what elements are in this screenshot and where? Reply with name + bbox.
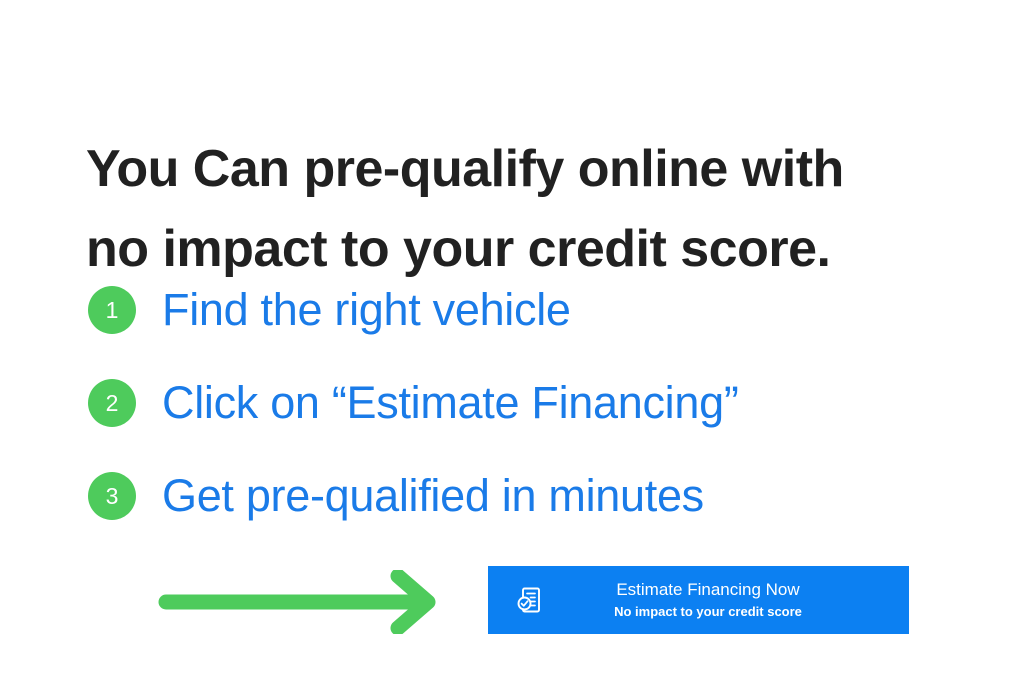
estimate-financing-button[interactable]: Estimate Financing Now No impact to your… <box>488 566 909 634</box>
cta-title: Estimate Financing Now <box>616 579 799 601</box>
steps-list: 1 Find the right vehicle 2 Click on “Est… <box>88 279 968 558</box>
arrow-right-icon <box>158 570 450 634</box>
promo-banner: You Can pre-qualify online with no impac… <box>0 0 1024 685</box>
list-item: 1 Find the right vehicle <box>88 279 968 341</box>
step-label: Find the right vehicle <box>162 286 571 333</box>
credit-report-check-icon <box>515 585 545 615</box>
step-label: Get pre-qualified in minutes <box>162 472 704 519</box>
step-label: Click on “Estimate Financing” <box>162 379 739 426</box>
list-item: 3 Get pre-qualified in minutes <box>88 465 968 527</box>
step-number-badge: 3 <box>88 472 136 520</box>
step-number-badge: 2 <box>88 379 136 427</box>
step-number-badge: 1 <box>88 286 136 334</box>
page-title: You Can pre-qualify online with no impac… <box>86 129 966 289</box>
cta-subtitle: No impact to your credit score <box>614 602 802 622</box>
list-item: 2 Click on “Estimate Financing” <box>88 372 968 434</box>
cta-label-group: Estimate Financing Now No impact to your… <box>545 579 871 622</box>
